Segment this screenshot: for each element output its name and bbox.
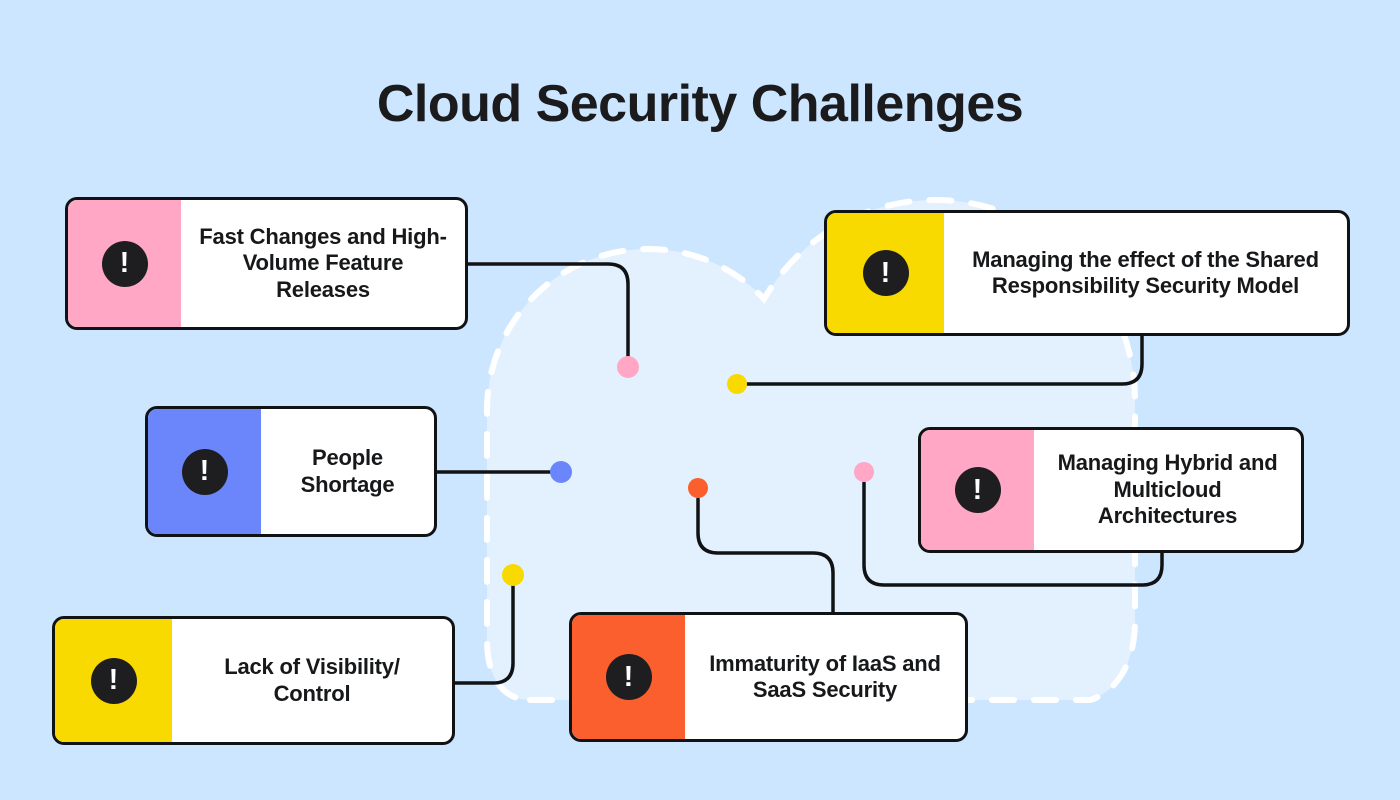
infographic-canvas: Cloud Security Challenges ! Fast Changes… xyxy=(0,0,1400,800)
card-hybrid-multicloud[interactable]: ! Managing Hybrid and Multicloud Archite… xyxy=(918,427,1304,553)
dot-shared-responsibility xyxy=(727,374,747,394)
exclamation-icon: ! xyxy=(955,467,1001,513)
card-accent-panel: ! xyxy=(68,200,181,327)
exclamation-icon: ! xyxy=(182,449,228,495)
card-label: Managing Hybrid and Multicloud Architect… xyxy=(1034,430,1301,550)
card-iaas-saas[interactable]: ! Immaturity of IaaS and SaaS Security xyxy=(569,612,968,742)
exclamation-icon: ! xyxy=(606,654,652,700)
connector-shared-responsibility xyxy=(747,336,1142,384)
card-label: Lack of Visibility/ Control xyxy=(172,619,452,742)
card-label: People Shortage xyxy=(261,409,434,534)
exclamation-icon: ! xyxy=(91,658,137,704)
card-lack-of-visibility[interactable]: ! Lack of Visibility/ Control xyxy=(52,616,455,745)
card-accent-panel: ! xyxy=(921,430,1034,550)
card-people-shortage[interactable]: ! People Shortage xyxy=(145,406,437,537)
card-label: Managing the effect of the Shared Respon… xyxy=(944,213,1347,333)
connector-lack-of-visibility xyxy=(455,586,513,683)
dot-lack-of-visibility xyxy=(502,564,524,586)
card-label: Immaturity of IaaS and SaaS Security xyxy=(685,615,965,739)
card-label: Fast Changes and High-Volume Feature Rel… xyxy=(181,200,465,327)
card-accent-panel: ! xyxy=(148,409,261,534)
card-shared-responsibility[interactable]: ! Managing the effect of the Shared Resp… xyxy=(824,210,1350,336)
page-title: Cloud Security Challenges xyxy=(0,74,1400,134)
dot-iaas-saas xyxy=(688,478,708,498)
card-fast-changes[interactable]: ! Fast Changes and High-Volume Feature R… xyxy=(65,197,468,330)
dot-fast-changes xyxy=(617,356,639,378)
connector-dot-group xyxy=(502,356,874,586)
exclamation-icon: ! xyxy=(863,250,909,296)
dot-people-shortage xyxy=(550,461,572,483)
connector-fast-changes xyxy=(468,264,628,362)
card-accent-panel: ! xyxy=(572,615,685,739)
card-accent-panel: ! xyxy=(827,213,944,333)
dot-hybrid-multicloud xyxy=(854,462,874,482)
exclamation-icon: ! xyxy=(102,241,148,287)
card-accent-panel: ! xyxy=(55,619,172,742)
connector-iaas-saas xyxy=(698,499,833,612)
